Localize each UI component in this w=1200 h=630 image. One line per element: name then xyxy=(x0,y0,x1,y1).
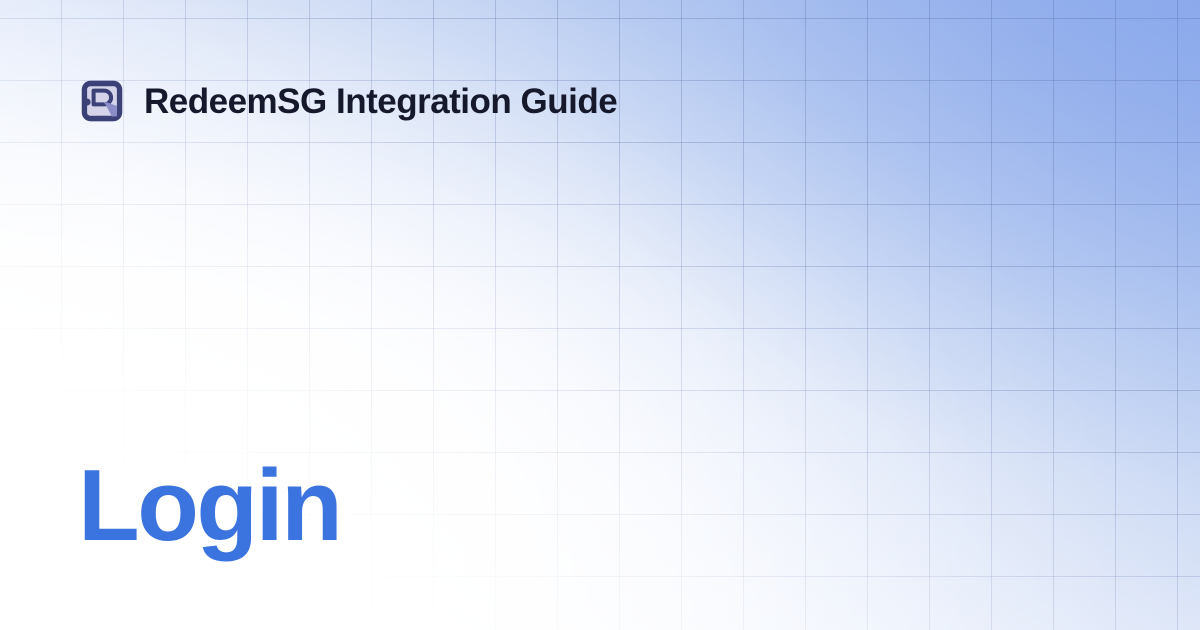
og-preview-card: RedeemSG Integration Guide Login xyxy=(0,0,1200,630)
redeemsg-ticket-r-logo-icon xyxy=(80,79,124,123)
page-title: Login xyxy=(78,456,340,557)
brand-header: RedeemSG Integration Guide xyxy=(80,79,617,123)
brand-title: RedeemSG Integration Guide xyxy=(144,84,617,119)
